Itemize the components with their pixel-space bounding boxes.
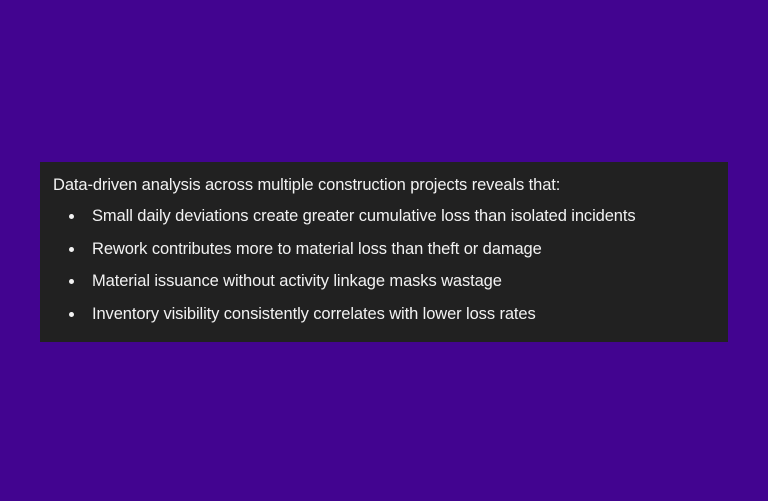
bullet-dot-icon	[69, 312, 74, 317]
list-item: Inventory visibility consistently correl…	[53, 298, 708, 331]
content-panel: Data-driven analysis across multiple con…	[40, 162, 728, 342]
bullet-list: Small daily deviations create greater cu…	[53, 200, 708, 330]
panel-heading: Data-driven analysis across multiple con…	[53, 174, 708, 196]
list-item-label: Material issuance without activity linka…	[92, 273, 502, 290]
list-item-label: Rework contributes more to material loss…	[92, 241, 542, 258]
slide-canvas: Data-driven analysis across multiple con…	[0, 0, 768, 501]
bullet-dot-icon	[69, 279, 74, 284]
list-item: Small daily deviations create greater cu…	[53, 200, 708, 233]
list-item-label: Inventory visibility consistently correl…	[92, 306, 536, 323]
list-item-label: Small daily deviations create greater cu…	[92, 208, 636, 225]
bullet-dot-icon	[69, 247, 74, 252]
bullet-dot-icon	[69, 214, 74, 219]
list-item: Rework contributes more to material loss…	[53, 233, 708, 266]
list-item: Material issuance without activity linka…	[53, 265, 708, 298]
